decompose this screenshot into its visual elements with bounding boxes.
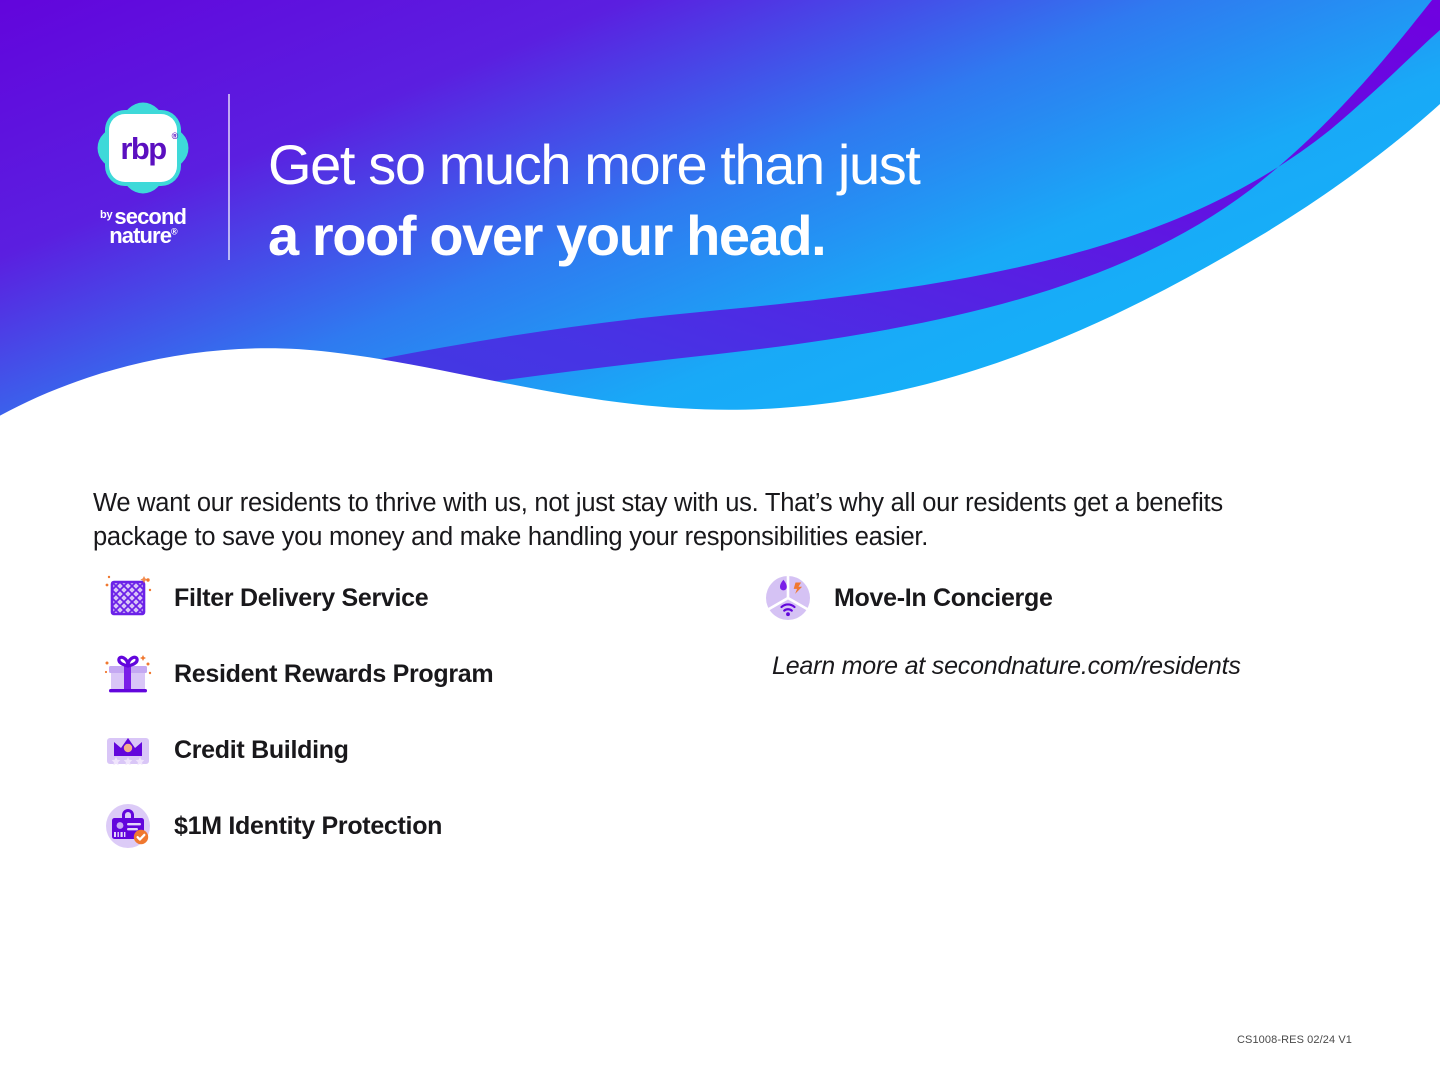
learn-more-text: Learn more at secondnature.com/residents <box>772 652 1241 681</box>
document-code: CS1008-RES 02/24 V1 <box>1237 1034 1352 1046</box>
rbp-logo: rbp ® bysecond nature® <box>88 96 203 256</box>
logo-byline-by: by <box>100 210 112 221</box>
headline-line-2: a roof over your head. <box>268 201 1168 271</box>
gift-box-icon <box>96 642 160 706</box>
air-filter-icon <box>96 566 160 630</box>
benefit-label: Credit Building <box>174 736 349 765</box>
rbp-logo-mark-icon: rbp ® <box>91 96 195 200</box>
svg-text:rbp: rbp <box>120 131 166 166</box>
benefit-item-credit-building: Credit Building <box>96 712 716 788</box>
crown-badge-icon <box>96 718 160 782</box>
benefits-column-left: Filter Delivery Service <box>96 560 716 864</box>
benefit-item-filter-delivery-service: Filter Delivery Service <box>96 560 716 636</box>
headline-line-1: Get so much more than just <box>268 129 1168 201</box>
svg-text:®: ® <box>172 131 179 141</box>
logo-byline: bysecond nature® <box>88 206 198 247</box>
benefit-label: Filter Delivery Service <box>174 584 428 613</box>
benefit-item-identity-protection: $1M Identity Protection <box>96 788 716 864</box>
benefit-item-resident-rewards-program: Resident Rewards Program <box>96 636 716 712</box>
benefits-column-right: Move-In Concierge <box>756 560 1376 636</box>
hero-headline: Get so much more than just a roof over y… <box>268 129 1168 271</box>
logo-divider <box>228 94 230 260</box>
rbp-rosette-icon: rbp ® <box>91 96 195 200</box>
benefit-label: Move-In Concierge <box>834 584 1053 613</box>
utilities-circle-icon <box>756 566 820 630</box>
id-badge-shield-icon <box>96 794 160 858</box>
benefit-label: $1M Identity Protection <box>174 812 442 841</box>
benefit-label: Resident Rewards Program <box>174 660 493 689</box>
flyer-page: rbp ® bysecond nature® Get so much more … <box>0 0 1440 1080</box>
intro-paragraph: We want our residents to thrive with us,… <box>93 486 1308 554</box>
benefit-item-move-in-concierge: Move-In Concierge <box>756 560 1376 636</box>
